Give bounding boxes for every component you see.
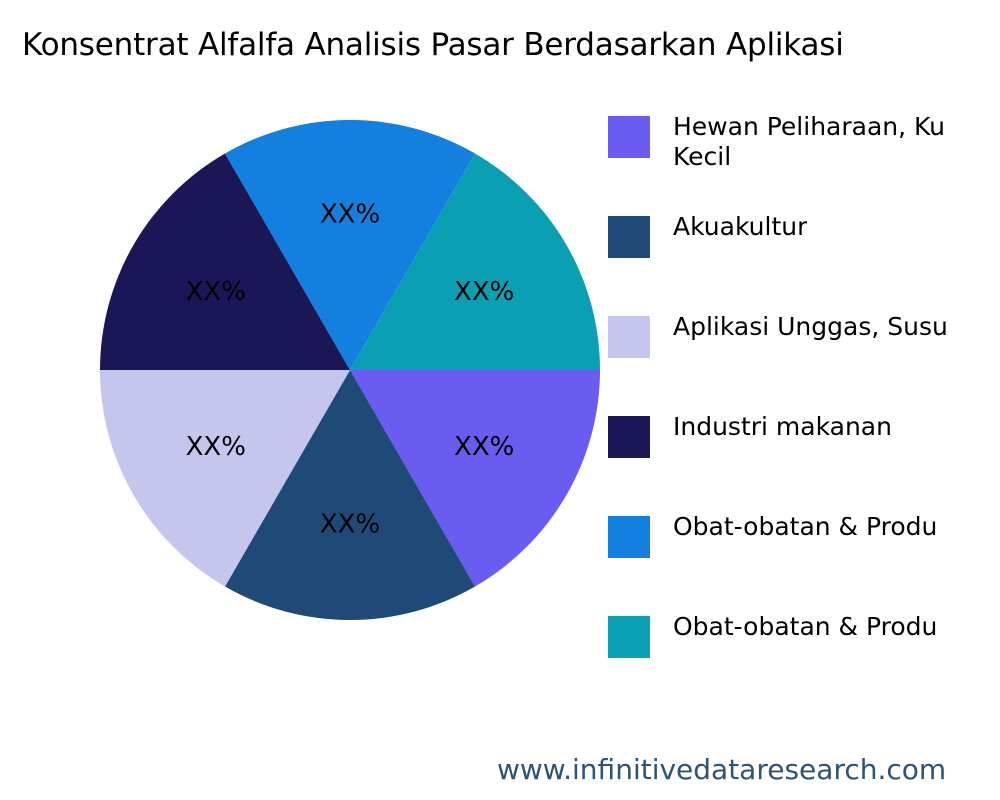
- pie-slice-label: XX%: [454, 432, 514, 462]
- legend-swatch-icon: [608, 416, 650, 458]
- pie-slice-label: XX%: [186, 432, 246, 462]
- legend-item-label: Aplikasi Unggas, Susu: [673, 312, 948, 342]
- legend-swatch-icon: [608, 216, 650, 258]
- legend-item-hewan-peliharaan[interactable]: Hewan Peliharaan, Ku Kecil: [608, 112, 1000, 172]
- legend-swatch-icon: [608, 516, 650, 558]
- legend-swatch-icon: [608, 316, 650, 358]
- legend-item-label: Obat-obatan & Produ: [673, 612, 937, 642]
- page-title: Konsentrat Alfalfa Analisis Pasar Berdas…: [22, 26, 844, 64]
- legend-item-akuakultur[interactable]: Akuakultur: [608, 212, 1000, 272]
- legend-item-aplikasi-unggas-susu[interactable]: Aplikasi Unggas, Susu: [608, 312, 1000, 372]
- legend-swatch-icon: [608, 616, 650, 658]
- legend-item-label: Akuakultur: [673, 212, 807, 242]
- pie-chart-svg: XX%XX%XX%XX%XX%XX%: [100, 120, 600, 620]
- pie-slice-label: XX%: [320, 510, 380, 540]
- legend-item-label: Industri makanan: [673, 412, 892, 442]
- legend-item-label: Obat-obatan & Produ: [673, 512, 937, 542]
- source-website-url[interactable]: www.infinitivedataresearch.com: [497, 753, 946, 787]
- legend-item-obat-obatan-produk-2[interactable]: Obat-obatan & Produ: [608, 612, 1000, 672]
- chart-legend: Hewan Peliharaan, Ku Kecil Akuakultur Ap…: [608, 112, 1000, 672]
- pie-slice-label: XX%: [320, 200, 380, 230]
- pie-slice-label: XX%: [454, 277, 514, 307]
- legend-item-obat-obatan-produk-1[interactable]: Obat-obatan & Produ: [608, 512, 1000, 572]
- legend-swatch-icon: [608, 116, 650, 158]
- pie-slice-group: [100, 120, 600, 620]
- pie-slice-label: XX%: [186, 277, 246, 307]
- legend-item-label: Hewan Peliharaan, Ku Kecil: [673, 112, 945, 172]
- legend-item-industri-makanan[interactable]: Industri makanan: [608, 412, 1000, 472]
- pie-chart: XX%XX%XX%XX%XX%XX%: [100, 120, 600, 620]
